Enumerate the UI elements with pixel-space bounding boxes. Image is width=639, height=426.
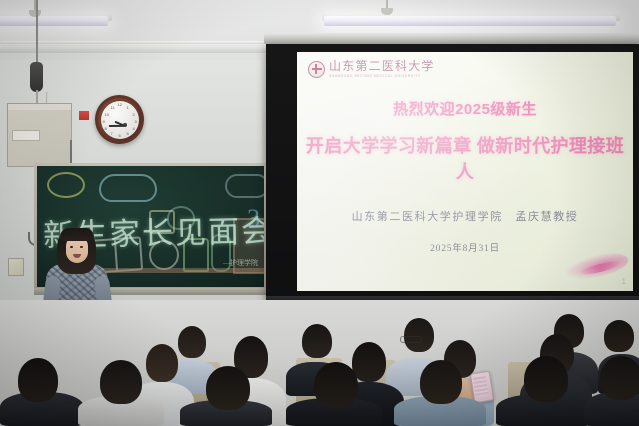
clock-numeral: 9 xyxy=(103,119,105,124)
clock-numeral: 6 xyxy=(119,133,121,138)
slide-page-number: 1 xyxy=(622,277,626,286)
chalk-sun-doodle xyxy=(47,172,85,198)
pendant-light-wire xyxy=(36,0,38,68)
university-name-en: SHANDONG SECOND MEDICAL UNIVERSITY xyxy=(329,74,435,78)
slide-title-line-2: 开启大学学习新篇章 做新时代护理接班人 xyxy=(297,132,633,184)
presenter-eye-right xyxy=(80,246,83,248)
slide-date: 2025年8月31日 xyxy=(297,240,633,254)
presenter-fringe xyxy=(60,228,94,241)
clock-numeral: 12 xyxy=(118,102,122,107)
projection-screen-housing xyxy=(264,33,639,44)
pendant-lamp xyxy=(30,62,43,92)
blackboard-corner-mark: 3 xyxy=(247,204,260,234)
slide-presenter-line: 山东第二医科大学护理学院 孟庆慧教授 xyxy=(297,208,633,224)
university-crest-icon xyxy=(308,61,325,78)
clock-face: 12 1 2 3 4 5 6 7 8 9 10 11 xyxy=(101,101,139,139)
clock-numeral: 2 xyxy=(133,112,135,117)
clock-numeral: 1 xyxy=(127,105,129,110)
control-box-label xyxy=(12,130,40,141)
chalk-cloud-doodle-2 xyxy=(225,174,264,198)
chalk-shelf-doodle xyxy=(83,268,264,273)
slide-title-line-1: 热烈欢迎2025级新生 xyxy=(297,98,633,119)
presenter-eye-left xyxy=(70,246,73,248)
classroom-photo: 12 1 2 3 4 5 6 7 8 9 10 11 新生家长见面会 xyxy=(0,0,639,426)
blackboard-signature: —护理学院 xyxy=(223,258,258,268)
clock-numeral: 10 xyxy=(105,112,109,117)
clock-center-pin xyxy=(123,123,127,127)
clock-numeral: 3 xyxy=(135,119,137,124)
clock-numeral: 4 xyxy=(133,126,135,131)
clock-numeral: 11 xyxy=(111,105,115,110)
clock-numeral: 8 xyxy=(105,126,107,131)
clock-numeral: 7 xyxy=(111,131,113,136)
blackboard-sticker xyxy=(79,111,89,120)
wall-clock: 12 1 2 3 4 5 6 7 8 9 10 11 xyxy=(95,95,144,144)
clock-numeral: 5 xyxy=(127,131,129,136)
presentation-slide: 山东第二医科大学 SHANDONG SECOND MEDICAL UNIVERS… xyxy=(297,52,633,291)
eyeglasses xyxy=(400,336,422,343)
chalk-cloud-doodle xyxy=(99,174,157,202)
university-logo: 山东第二医科大学 SHANDONG SECOND MEDICAL UNIVERS… xyxy=(308,60,435,78)
light-switch[interactable] xyxy=(8,258,24,276)
university-name-cn: 山东第二医科大学 xyxy=(329,60,435,72)
